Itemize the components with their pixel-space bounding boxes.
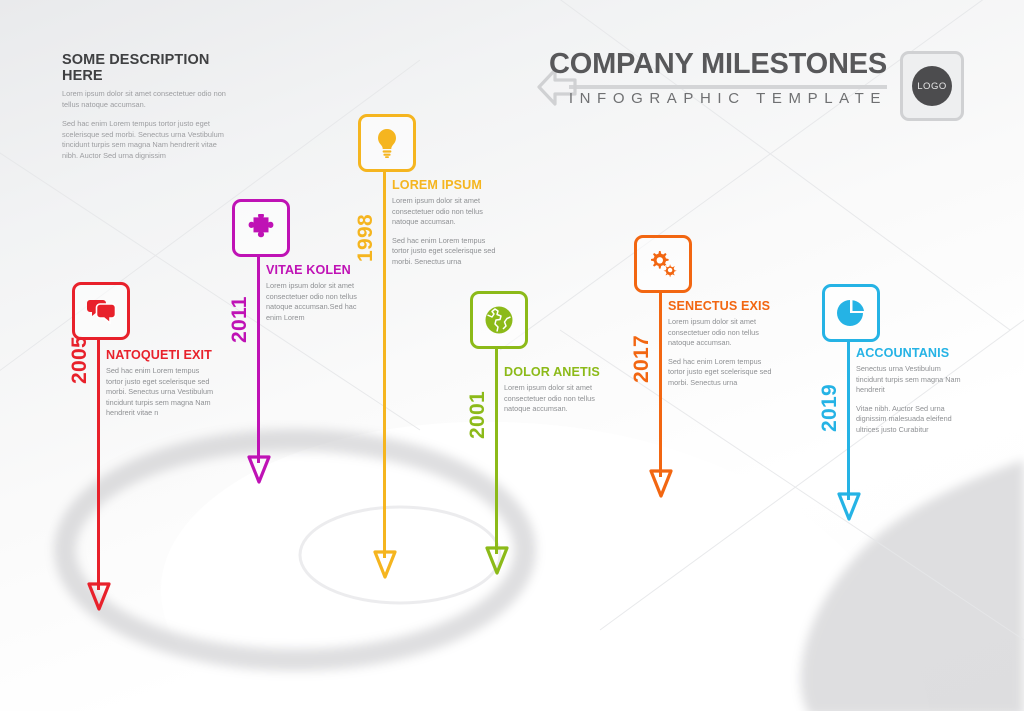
milestone-paragraph-1: Sed hac enim Lorem tempus tortor justo e… bbox=[106, 366, 214, 419]
header: COMPANY MILESTONES INFOGRAPHIC TEMPLATE … bbox=[535, 48, 975, 126]
milestone-text: NATOQUETI EXIT Sed hac enim Lorem tempus… bbox=[106, 348, 214, 419]
logo-placeholder[interactable]: LOGO bbox=[900, 51, 964, 121]
milestone-icon-box[interactable] bbox=[72, 282, 130, 340]
milestone-paragraph-2: Vitae nibh. Auctor Sed urna dignissim ma… bbox=[856, 404, 964, 436]
milestone-icon-box[interactable] bbox=[232, 199, 290, 257]
description-block: SOME DESCRIPTION HERE Lorem ipsum dolor … bbox=[62, 52, 227, 161]
milestone-title: SENECTUS EXIS bbox=[668, 299, 778, 313]
gears-icon bbox=[648, 250, 678, 278]
milestone-stem bbox=[659, 291, 662, 477]
milestone-arrowhead-icon bbox=[836, 492, 862, 522]
milestone-paragraph-2: Sed hac enim Lorem tempus tortor justo e… bbox=[668, 357, 778, 389]
milestone-arrowhead-icon bbox=[372, 550, 398, 580]
milestone-stem bbox=[97, 338, 100, 590]
page-title: COMPANY MILESTONES bbox=[549, 48, 887, 81]
page-subtitle: INFOGRAPHIC TEMPLATE bbox=[569, 90, 887, 107]
milestone-paragraph-1: Lorem ipsum dolor sit amet consectetuer … bbox=[668, 317, 778, 349]
milestone-icon-box[interactable] bbox=[634, 235, 692, 293]
milestone-arrowhead-icon bbox=[86, 582, 112, 612]
milestone-year: 2019 bbox=[818, 384, 842, 432]
milestone-text: VITAE KOLEN Lorem ipsum dolor sit amet c… bbox=[266, 263, 366, 323]
puzzle-piece-icon bbox=[247, 214, 275, 242]
milestone-text: LOREM IPSUM Lorem ipsum dolor sit amet c… bbox=[392, 178, 500, 267]
milestone-text: ACCOUNTANIS Senectus urna Vestibulum tin… bbox=[856, 346, 964, 435]
milestone-paragraph-2: Sed hac enim Lorem tempus tortor justo e… bbox=[392, 236, 500, 268]
milestone-arrowhead-icon bbox=[484, 546, 510, 576]
milestone-arrowhead-icon bbox=[648, 469, 674, 499]
milestone-title: LOREM IPSUM bbox=[392, 178, 500, 192]
globe-icon bbox=[484, 305, 514, 335]
milestone-year: 2005 bbox=[68, 336, 92, 384]
milestone-arrowhead-icon bbox=[246, 455, 272, 485]
milestone-title: NATOQUETI EXIT bbox=[106, 348, 214, 362]
milestone-stem bbox=[257, 255, 260, 463]
description-paragraph-1: Lorem ipsum dolor sit amet consectetuer … bbox=[62, 89, 227, 110]
milestone-year: 1998 bbox=[354, 214, 378, 262]
pie-chart-icon bbox=[836, 298, 866, 328]
milestone-paragraph-1: Senectus urna Vestibulum tincidunt turpi… bbox=[856, 364, 964, 396]
milestone-icon-box[interactable] bbox=[822, 284, 880, 342]
milestone-stem bbox=[383, 170, 386, 558]
infographic-canvas: SOME DESCRIPTION HERE Lorem ipsum dolor … bbox=[0, 0, 1024, 711]
milestone-paragraph-1: Lorem ipsum dolor sit amet consectetuer … bbox=[266, 281, 366, 323]
lightbulb-icon bbox=[375, 128, 399, 158]
milestone-stem bbox=[495, 347, 498, 554]
milestone-icon-box[interactable] bbox=[470, 291, 528, 349]
milestone-text: DOLOR ANETIS Lorem ipsum dolor sit amet … bbox=[504, 365, 612, 415]
description-title: SOME DESCRIPTION HERE bbox=[62, 52, 227, 84]
milestone-paragraph-1: Lorem ipsum dolor sit amet consectetuer … bbox=[504, 383, 612, 415]
milestone-title: VITAE KOLEN bbox=[266, 263, 366, 277]
milestone-year: 2011 bbox=[228, 296, 252, 343]
milestone-year: 2001 bbox=[466, 391, 490, 439]
speech-bubbles-icon bbox=[86, 298, 116, 324]
milestone-paragraph-1: Lorem ipsum dolor sit amet consectetuer … bbox=[392, 196, 500, 228]
description-paragraph-2: Sed hac enim Lorem tempus tortor justo e… bbox=[62, 119, 227, 161]
logo-label: LOGO bbox=[917, 81, 946, 92]
milestone-title: DOLOR ANETIS bbox=[504, 365, 612, 379]
logo-circle: LOGO bbox=[912, 66, 952, 106]
milestone-title: ACCOUNTANIS bbox=[856, 346, 964, 360]
header-rule bbox=[569, 85, 887, 89]
milestone-stem bbox=[847, 340, 850, 500]
milestone-icon-box[interactable] bbox=[358, 114, 416, 172]
milestone-year: 2017 bbox=[630, 335, 654, 383]
milestone-text: SENECTUS EXIS Lorem ipsum dolor sit amet… bbox=[668, 299, 778, 388]
